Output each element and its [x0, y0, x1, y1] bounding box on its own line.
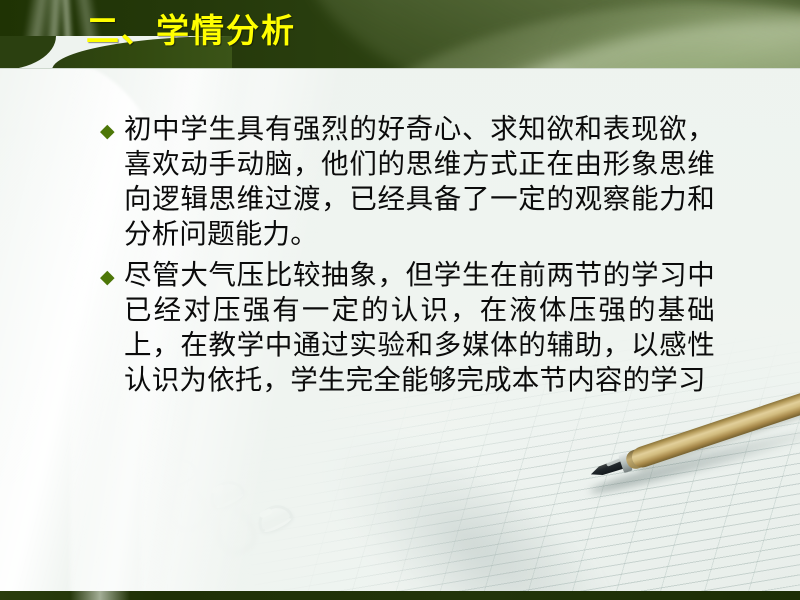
page-title: 二、学情分析: [86, 9, 296, 53]
footer-bar: [0, 591, 800, 600]
diamond-bullet-icon: ◆: [100, 122, 122, 141]
presentation-slide: 二、学情分析 ◆ 初中学生具有强烈的好奇心、求知欲和表现欲，喜欢动手动脑，他们的…: [0, 0, 800, 600]
diamond-bullet-icon: ◆: [100, 268, 122, 287]
list-item: ◆ 初中学生具有强烈的好奇心、求知欲和表现欲，喜欢动手动脑，他们的思维方式正在由…: [100, 112, 715, 252]
bullet-text: 初中学生具有强烈的好奇心、求知欲和表现欲，喜欢动手动脑，他们的思维方式正在由形象…: [124, 112, 715, 252]
bullet-text: 尽管大气压比较抽象，但学生在前两节的学习中已经对压强有一定的认识，在液体压强的基…: [124, 258, 715, 398]
footer-bar-highlight: [70, 591, 130, 600]
slide-body: ◆ 初中学生具有强烈的好奇心、求知欲和表现欲，喜欢动手动脑，他们的思维方式正在由…: [100, 112, 715, 404]
list-item: ◆ 尽管大气压比较抽象，但学生在前两节的学习中已经对压强有一定的认识，在液体压强…: [100, 258, 715, 398]
